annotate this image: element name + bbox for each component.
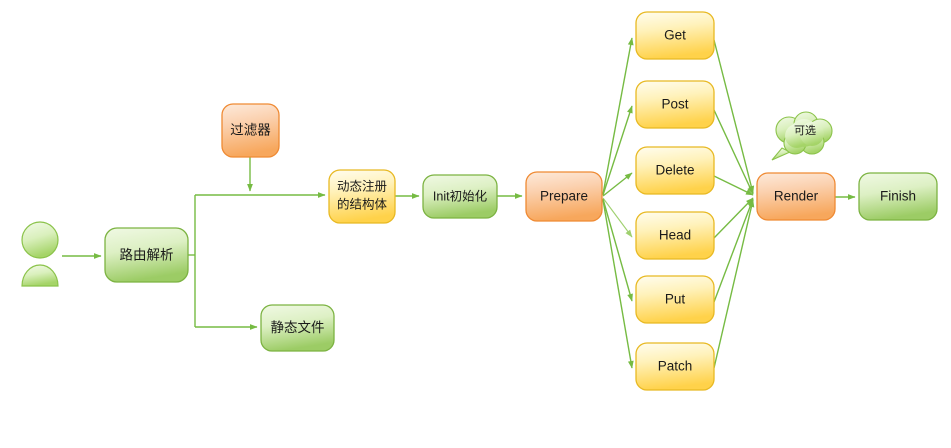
node-dynamic-register[interactable]: 动态注册 的结构体 [329,170,395,223]
cloud-body-icon [776,112,832,154]
node-filter-shape[interactable] [222,104,279,157]
node-patch-shape[interactable] [636,343,714,390]
node-head-shape[interactable] [636,212,714,259]
edge-prepare-to-head [603,198,632,237]
node-init[interactable]: Init初始化 [423,175,497,218]
node-patch[interactable]: Patch [636,343,714,390]
node-delete[interactable]: Delete [636,147,714,194]
node-put[interactable]: Put [636,276,714,323]
actor-head-icon [22,222,58,258]
node-head[interactable]: Head [636,212,714,259]
flowchart-svg: 路由解析 过滤器 静态文件 动态注册 的结构体 Init初始化 Prepare … [0,0,951,448]
node-render-shape[interactable] [757,173,835,220]
node-finish[interactable]: Finish [859,173,937,220]
node-optional-cloud[interactable]: 可选 [772,112,832,160]
node-delete-shape[interactable] [636,147,714,194]
node-prepare-shape[interactable] [526,172,602,221]
node-post[interactable]: Post [636,81,714,128]
node-route-parse-shape[interactable] [105,228,188,282]
edge-delete-to-render [714,176,753,195]
node-static-file[interactable]: 静态文件 [261,305,334,351]
node-render[interactable]: Render [757,173,835,220]
edge-prepare-to-delete [603,173,632,196]
node-dynamic-register-shape[interactable] [329,170,395,223]
flowchart-canvas: 路由解析 过滤器 静态文件 动态注册 的结构体 Init初始化 Prepare … [0,0,951,448]
node-filter[interactable]: 过滤器 [222,104,279,157]
actor-body-icon [22,265,58,286]
node-route-parse[interactable]: 路由解析 [105,228,188,282]
node-get-shape[interactable] [636,12,714,59]
edge-head-to-render [714,198,753,238]
node-prepare[interactable]: Prepare [526,172,602,221]
edge-patch-to-render [714,200,753,368]
node-init-shape[interactable] [423,175,497,218]
edge-prepare-to-get [603,38,632,194]
node-static-file-shape[interactable] [261,305,334,351]
edge-get-to-render [714,40,753,193]
node-put-shape[interactable] [636,276,714,323]
node-post-shape[interactable] [636,81,714,128]
actor-user [22,222,58,286]
edge-post-to-render [714,110,753,194]
node-get[interactable]: Get [636,12,714,59]
node-finish-shape[interactable] [859,173,937,220]
